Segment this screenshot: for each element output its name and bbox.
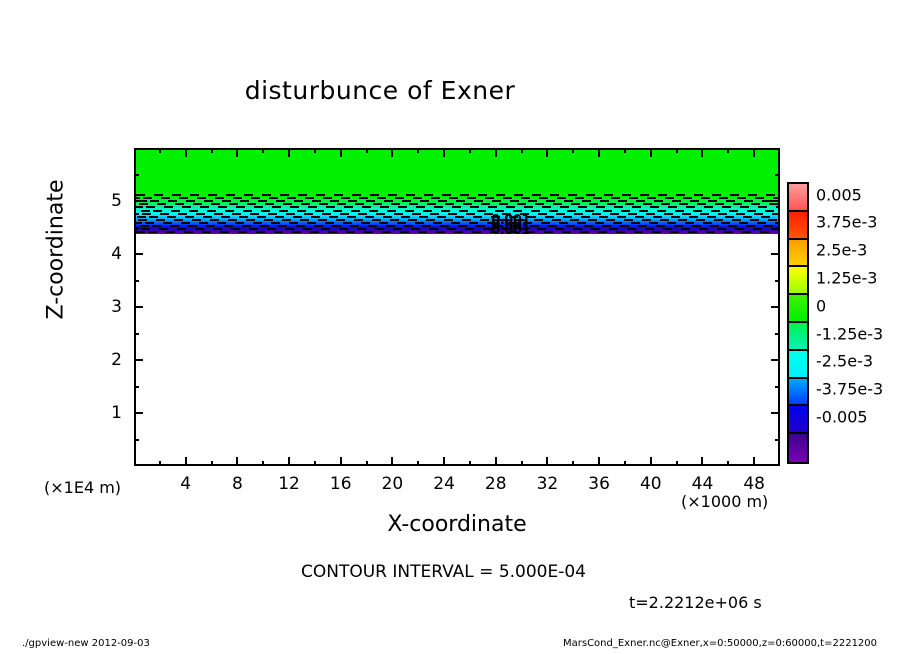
x-tick-major [185,457,187,466]
x-axis-title: X-coordinate [134,512,780,537]
y-tick-major [134,412,143,414]
colorbar-band [789,323,807,351]
x-tick-major [391,148,393,157]
colorbar-band [789,379,807,407]
colorbar-band [789,267,807,295]
x-tick-minor [417,461,419,466]
colorbar-band [789,351,807,379]
colorbar [787,182,809,464]
x-tick-label: 12 [278,474,300,494]
y-tick-major [134,306,143,308]
x-tick-label: 44 [692,474,714,494]
x-tick-major [650,457,652,466]
x-tick-minor [262,461,264,466]
colorbar-band [789,295,807,323]
x-tick-major [288,457,290,466]
x-tick-major [443,457,445,466]
x-tick-major [753,457,755,466]
colorbar-band [789,184,807,212]
x-tick-label: 20 [382,474,404,494]
colorbar-band [789,240,807,268]
y-tick-label: 2 [94,350,122,370]
colorbar-band [789,434,807,462]
y-tick-major [771,200,780,202]
field-zero-region [136,150,778,197]
x-tick-minor [366,148,368,153]
footer-source: MarsCond_Exner.nc@Exner,x=0:50000,z=0:60… [563,638,877,649]
y-tick-minor [775,439,780,441]
plot-canvas: disturbunce of Exner 0.0010.0010.001 481… [0,0,904,654]
x-tick-major [546,457,548,466]
x-tick-minor [521,461,523,466]
x-tick-minor [366,461,368,466]
footer-command: ./gpview-new 2012-09-03 [22,638,150,649]
x-tick-minor [727,461,729,466]
field-blank-region [136,234,778,464]
y-tick-major [134,253,143,255]
x-tick-label: 4 [180,474,191,494]
y-tick-minor [775,280,780,282]
y-tick-minor [775,174,780,176]
x-tick-label: 8 [232,474,243,494]
x-tick-minor [159,148,161,153]
y-tick-label: 4 [94,244,122,264]
y-tick-minor [775,333,780,335]
y-axis-title: Z-coordinate [44,140,69,360]
contour-field: 0.0010.0010.001 [136,150,778,464]
page-title: disturbunce of Exner [0,76,760,105]
x-tick-minor [624,461,626,466]
x-tick-major [546,148,548,157]
x-tick-minor [262,148,264,153]
colorbar-tick-label: -0.005 [816,407,868,426]
x-tick-minor [417,148,419,153]
y-tick-minor [134,439,139,441]
x-tick-minor [211,148,213,153]
x-tick-major [598,457,600,466]
plot-frame: 0.0010.0010.001 [134,148,780,466]
colorbar-tick-label: -3.75e-3 [816,380,883,399]
x-tick-minor [159,461,161,466]
colorbar-tick-label: -1.25e-3 [816,324,883,343]
y-tick-minor [134,227,139,229]
time-stamp-text: t=2.2212e+06 s [629,593,762,612]
x-tick-major [340,457,342,466]
x-tick-minor [211,461,213,466]
x-tick-minor [469,148,471,153]
colorbar-tick-label: -2.5e-3 [816,352,873,371]
x-tick-label: 32 [537,474,559,494]
y-tick-label: 5 [94,191,122,211]
y-axis-unit-label: (×1E4 m) [44,478,121,497]
x-tick-minor [314,461,316,466]
y-tick-major [771,359,780,361]
y-tick-minor [775,386,780,388]
x-tick-major [288,148,290,157]
x-tick-major [236,457,238,466]
y-tick-label: 1 [94,403,122,423]
field-disturbance-layer [136,197,778,234]
x-tick-minor [572,461,574,466]
x-tick-label: 40 [640,474,662,494]
x-tick-minor [676,148,678,153]
colorbar-band [789,212,807,240]
colorbar-tick-label: 3.75e-3 [816,213,877,232]
x-tick-major [650,148,652,157]
x-tick-label: 36 [588,474,610,494]
y-tick-minor [775,227,780,229]
x-tick-minor [314,148,316,153]
x-tick-minor [469,461,471,466]
x-tick-major [443,148,445,157]
x-tick-major [185,148,187,157]
colorbar-tick-label: 0.005 [816,185,862,204]
y-tick-minor [134,280,139,282]
x-tick-major [701,148,703,157]
y-tick-major [771,412,780,414]
contour-interval-text: CONTOUR INTERVAL = 5.000E-04 [301,562,586,582]
y-tick-major [771,306,780,308]
y-tick-minor [134,174,139,176]
y-tick-major [134,359,143,361]
colorbar-band [789,406,807,434]
x-tick-major [495,148,497,157]
x-tick-major [236,148,238,157]
x-tick-minor [727,148,729,153]
contour-inline-label: 0.001 [491,223,530,238]
x-tick-major [701,457,703,466]
y-tick-major [134,200,143,202]
x-tick-minor [676,461,678,466]
y-tick-major [771,253,780,255]
x-tick-major [753,148,755,157]
y-tick-minor [134,333,139,335]
x-tick-minor [572,148,574,153]
colorbar-tick-label: 1.25e-3 [816,268,877,287]
x-tick-major [495,457,497,466]
x-tick-minor [521,148,523,153]
colorbar-tick-label: 0 [816,296,826,315]
x-tick-minor [624,148,626,153]
x-axis-unit-label: (×1000 m) [681,492,768,511]
x-tick-label: 16 [330,474,352,494]
x-tick-label: 48 [743,474,765,494]
y-tick-label: 3 [94,297,122,317]
y-tick-minor [134,386,139,388]
x-tick-major [340,148,342,157]
x-tick-major [391,457,393,466]
x-tick-major [598,148,600,157]
colorbar-tick-label: 2.5e-3 [816,241,867,260]
x-tick-label: 28 [485,474,507,494]
x-tick-label: 24 [433,474,455,494]
